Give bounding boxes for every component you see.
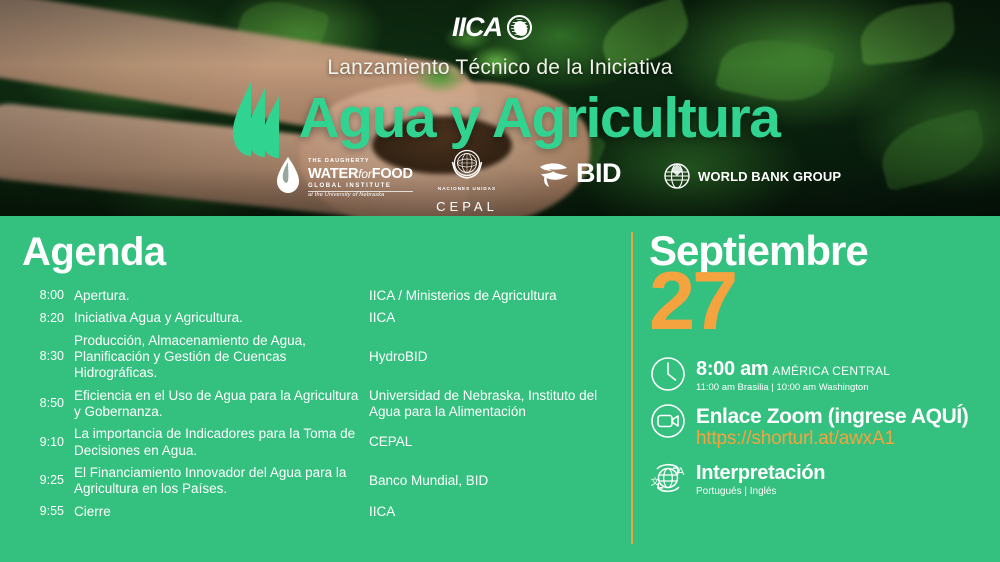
event-time-item: 8:00 amAMÉRICA CENTRAL 11:00 am Brasilia…: [649, 357, 990, 393]
agenda-row: 8:20Iniciativa Agua y Agricultura.IICA: [22, 310, 631, 326]
zoom-link-label[interactable]: Enlace Zoom (ingrese AQUÍ): [696, 406, 968, 428]
svg-text:A: A: [677, 466, 685, 478]
agenda-row-time: 9:10: [22, 435, 74, 451]
wff-word-food: FOOD: [372, 166, 413, 182]
agenda-row-topic: Apertura.: [74, 288, 369, 304]
agenda-row-time: 9:55: [22, 504, 74, 520]
event-info-list: 8:00 amAMÉRICA CENTRAL 11:00 am Brasilia…: [649, 357, 990, 497]
interpretation-item: 文 A Interpretación Portugués | Inglés: [649, 461, 990, 497]
bid-label: BID: [576, 160, 621, 187]
wff-line-daugherty: THE DAUGHERTY: [308, 158, 370, 164]
world-bank-label: WORLD BANK GROUP: [698, 170, 841, 183]
agenda-row: 9:55CierreIICA: [22, 504, 631, 520]
wff-line-institute: GLOBAL INSTITUTE: [308, 183, 413, 189]
wff-word-water: WATER: [308, 166, 358, 182]
video-camera-icon: [649, 402, 687, 440]
logo-water-for-food: THE DAUGHERTY WATERforFOOD GLOBAL INSTIT…: [275, 150, 413, 199]
agenda-row: 8:00Apertura.IICA / Ministerios de Agric…: [22, 288, 631, 304]
un-emblem-icon: [450, 167, 484, 184]
agenda-row: 8:50Eficiencia en el Uso de Agua para la…: [22, 388, 631, 421]
event-day: 27: [649, 267, 990, 335]
agenda-row-time: 8:00: [22, 288, 74, 304]
agenda-row-topic: El Financiamiento Innovador del Agua par…: [74, 465, 369, 498]
iica-globe-icon: [507, 15, 532, 40]
event-alt-timezones: 11:00 am Brasilia | 10:00 am Washington: [696, 382, 890, 393]
iica-logo-text: IICA: [452, 14, 502, 41]
zoom-link-item[interactable]: Enlace Zoom (ingrese AQUÍ) https://short…: [649, 404, 990, 450]
agenda-row-speaker: IICA / Ministerios de Agricultura: [369, 288, 631, 304]
agenda-row: 9:10La importancia de Indicadores para l…: [22, 426, 631, 459]
agenda-row-topic: Producción, Almacenamiento de Agua, Plan…: [74, 333, 369, 382]
agenda-row-topic: La importancia de Indicadores para la To…: [74, 426, 369, 459]
iica-logo: IICA: [452, 14, 532, 41]
clock-icon: [649, 355, 687, 393]
page-title: Agua y Agricultura: [299, 89, 780, 149]
agenda-row-time: 8:30: [22, 349, 74, 365]
un-subtitle: NACIONES UNIDAS: [432, 186, 502, 191]
partner-logos: THE DAUGHERTY WATERforFOOD GLOBAL INSTIT…: [0, 148, 1000, 210]
cepal-label: CEPAL: [432, 199, 502, 214]
agenda-row-topic: Eficiencia en el Uso de Agua para la Agr…: [74, 388, 369, 421]
title-block: Lanzamiento Técnico de la Iniciativa Agu…: [0, 56, 1000, 160]
interpretation-languages: Portugués | Inglés: [696, 486, 825, 497]
event-timezone: AMÉRICA CENTRAL: [772, 364, 890, 378]
agenda-row-speaker: Universidad de Nebraska, Instituto del A…: [369, 388, 631, 421]
agenda-row-time: 9:25: [22, 473, 74, 489]
wff-word-for: for: [358, 167, 371, 181]
agenda-row-topic: Iniciativa Agua y Agricultura.: [74, 310, 369, 326]
wff-line-university: at the University of Nebraska: [308, 193, 413, 199]
agenda-row-time: 8:20: [22, 311, 74, 327]
zoom-link-url[interactable]: https://shorturl.at/awxA1: [696, 429, 968, 450]
event-hour: 8:00 am: [696, 358, 768, 380]
agenda-row: 8:30Producción, Almacenamiento de Agua, …: [22, 333, 631, 382]
agenda-row-time: 8:50: [22, 396, 74, 412]
interpretation-label: Interpretación: [696, 463, 825, 484]
agenda-heading: Agenda: [22, 232, 631, 272]
world-bank-globe-icon: [663, 162, 691, 190]
event-subtitle: Lanzamiento Técnico de la Iniciativa: [0, 56, 1000, 80]
agenda-row-speaker: Banco Mundial, BID: [369, 473, 631, 489]
water-drop-icon: [275, 156, 301, 194]
agenda-row-speaker: IICA: [369, 504, 631, 520]
event-poster: IICA Lanzamiento Técnico de la Iniciativ…: [0, 0, 1000, 562]
agenda-row-speaker: CEPAL: [369, 434, 631, 450]
agenda-row-topic: Cierre: [74, 504, 369, 520]
svg-text:文: 文: [651, 476, 660, 488]
event-details-panel: Septiembre 27 8:00 amAMÉRICA CENTRAL 11:…: [645, 216, 1000, 562]
agenda-section: Agenda 8:00Apertura.IICA / Ministerios d…: [0, 216, 631, 562]
logo-bid: BID: [538, 158, 621, 188]
bid-leaf-icon: [538, 158, 570, 188]
translate-globe-icon: 文 A: [649, 459, 687, 497]
agenda-row-speaker: HydroBID: [369, 349, 631, 365]
agenda-row: 9:25El Financiamiento Innovador del Agua…: [22, 465, 631, 498]
vertical-divider: [631, 232, 633, 544]
agenda-list: 8:00Apertura.IICA / Ministerios de Agric…: [22, 288, 631, 520]
agenda-row-speaker: IICA: [369, 310, 631, 326]
logo-un-cepal: NACIONES UNIDAS CEPAL: [432, 146, 502, 214]
logo-world-bank: WORLD BANK GROUP: [663, 162, 841, 190]
